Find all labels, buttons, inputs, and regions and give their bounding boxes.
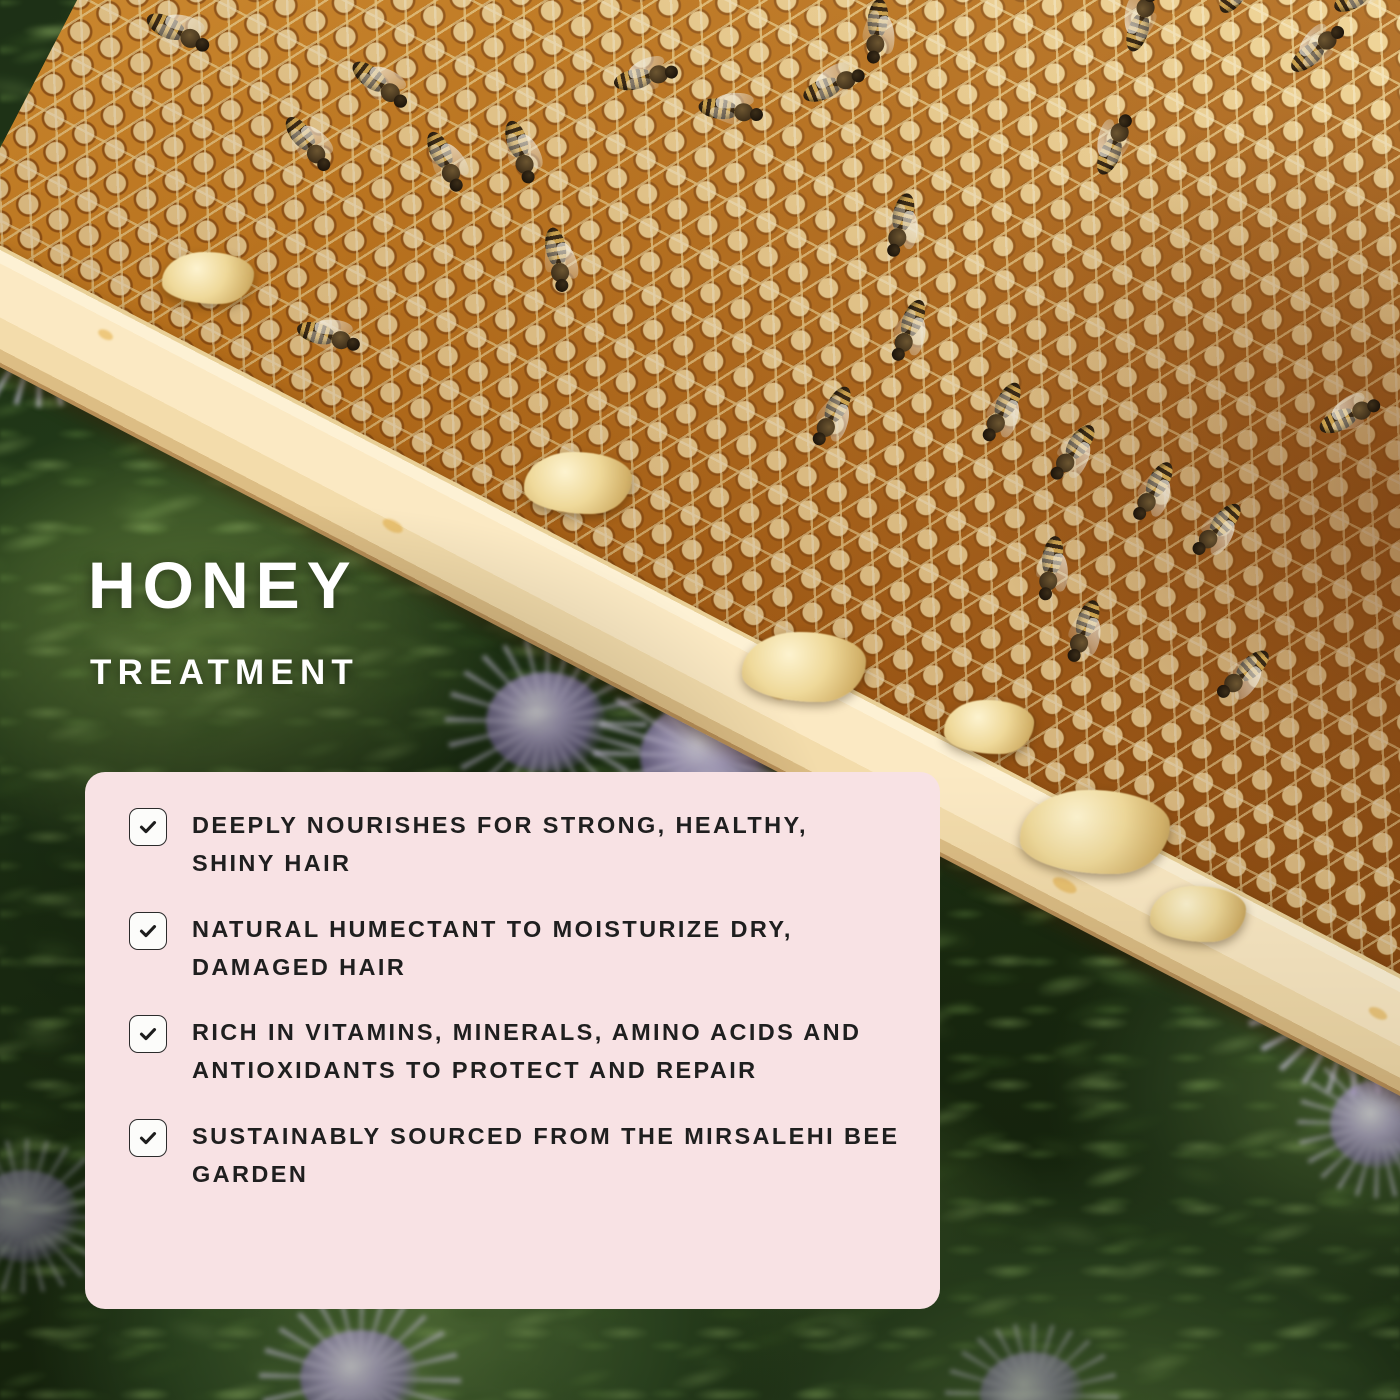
marketing-image: HONEY TREATMENT DEEPLY NOURISHES FOR STR…	[0, 0, 1400, 1400]
phacelia-flower	[0, 1170, 80, 1262]
wax-speck	[1050, 874, 1079, 897]
benefit-text: RICH IN VITAMINS, MINERALS, AMINO ACIDS …	[192, 1013, 900, 1090]
checkmark-icon	[129, 808, 167, 846]
page-title: HONEY	[88, 552, 358, 618]
checkmark-icon	[129, 1119, 167, 1157]
benefit-item: RICH IN VITAMINS, MINERALS, AMINO ACIDS …	[129, 1013, 900, 1090]
burr-comb-wax	[162, 252, 254, 304]
benefit-text: SUSTAINABLY SOURCED FROM THE MIRSALEHI B…	[192, 1117, 900, 1194]
burr-comb-wax	[742, 632, 866, 702]
benefits-card: DEEPLY NOURISHES FOR STRONG, HEALTHY, SH…	[85, 772, 940, 1309]
benefit-text: NATURAL HUMECTANT TO MOISTURIZE DRY, DAM…	[192, 910, 900, 987]
wax-speck	[96, 327, 114, 342]
benefit-item: NATURAL HUMECTANT TO MOISTURIZE DRY, DAM…	[129, 910, 900, 987]
phacelia-flower	[300, 1330, 420, 1400]
burr-comb-wax	[1020, 790, 1170, 874]
checkmark-icon	[129, 1015, 167, 1053]
benefit-text: DEEPLY NOURISHES FOR STRONG, HEALTHY, SH…	[192, 806, 900, 883]
burr-comb-wax	[524, 452, 632, 514]
benefit-item: SUSTAINABLY SOURCED FROM THE MIRSALEHI B…	[129, 1117, 900, 1194]
burr-comb-wax	[944, 700, 1034, 754]
phacelia-flower	[980, 1352, 1084, 1400]
burr-comb-wax	[1150, 886, 1246, 942]
wax-speck	[1367, 1004, 1389, 1022]
wax-speck	[380, 516, 405, 536]
page-subtitle: TREATMENT	[90, 655, 359, 690]
benefit-item: DEEPLY NOURISHES FOR STRONG, HEALTHY, SH…	[129, 806, 900, 883]
checkmark-icon	[129, 912, 167, 950]
